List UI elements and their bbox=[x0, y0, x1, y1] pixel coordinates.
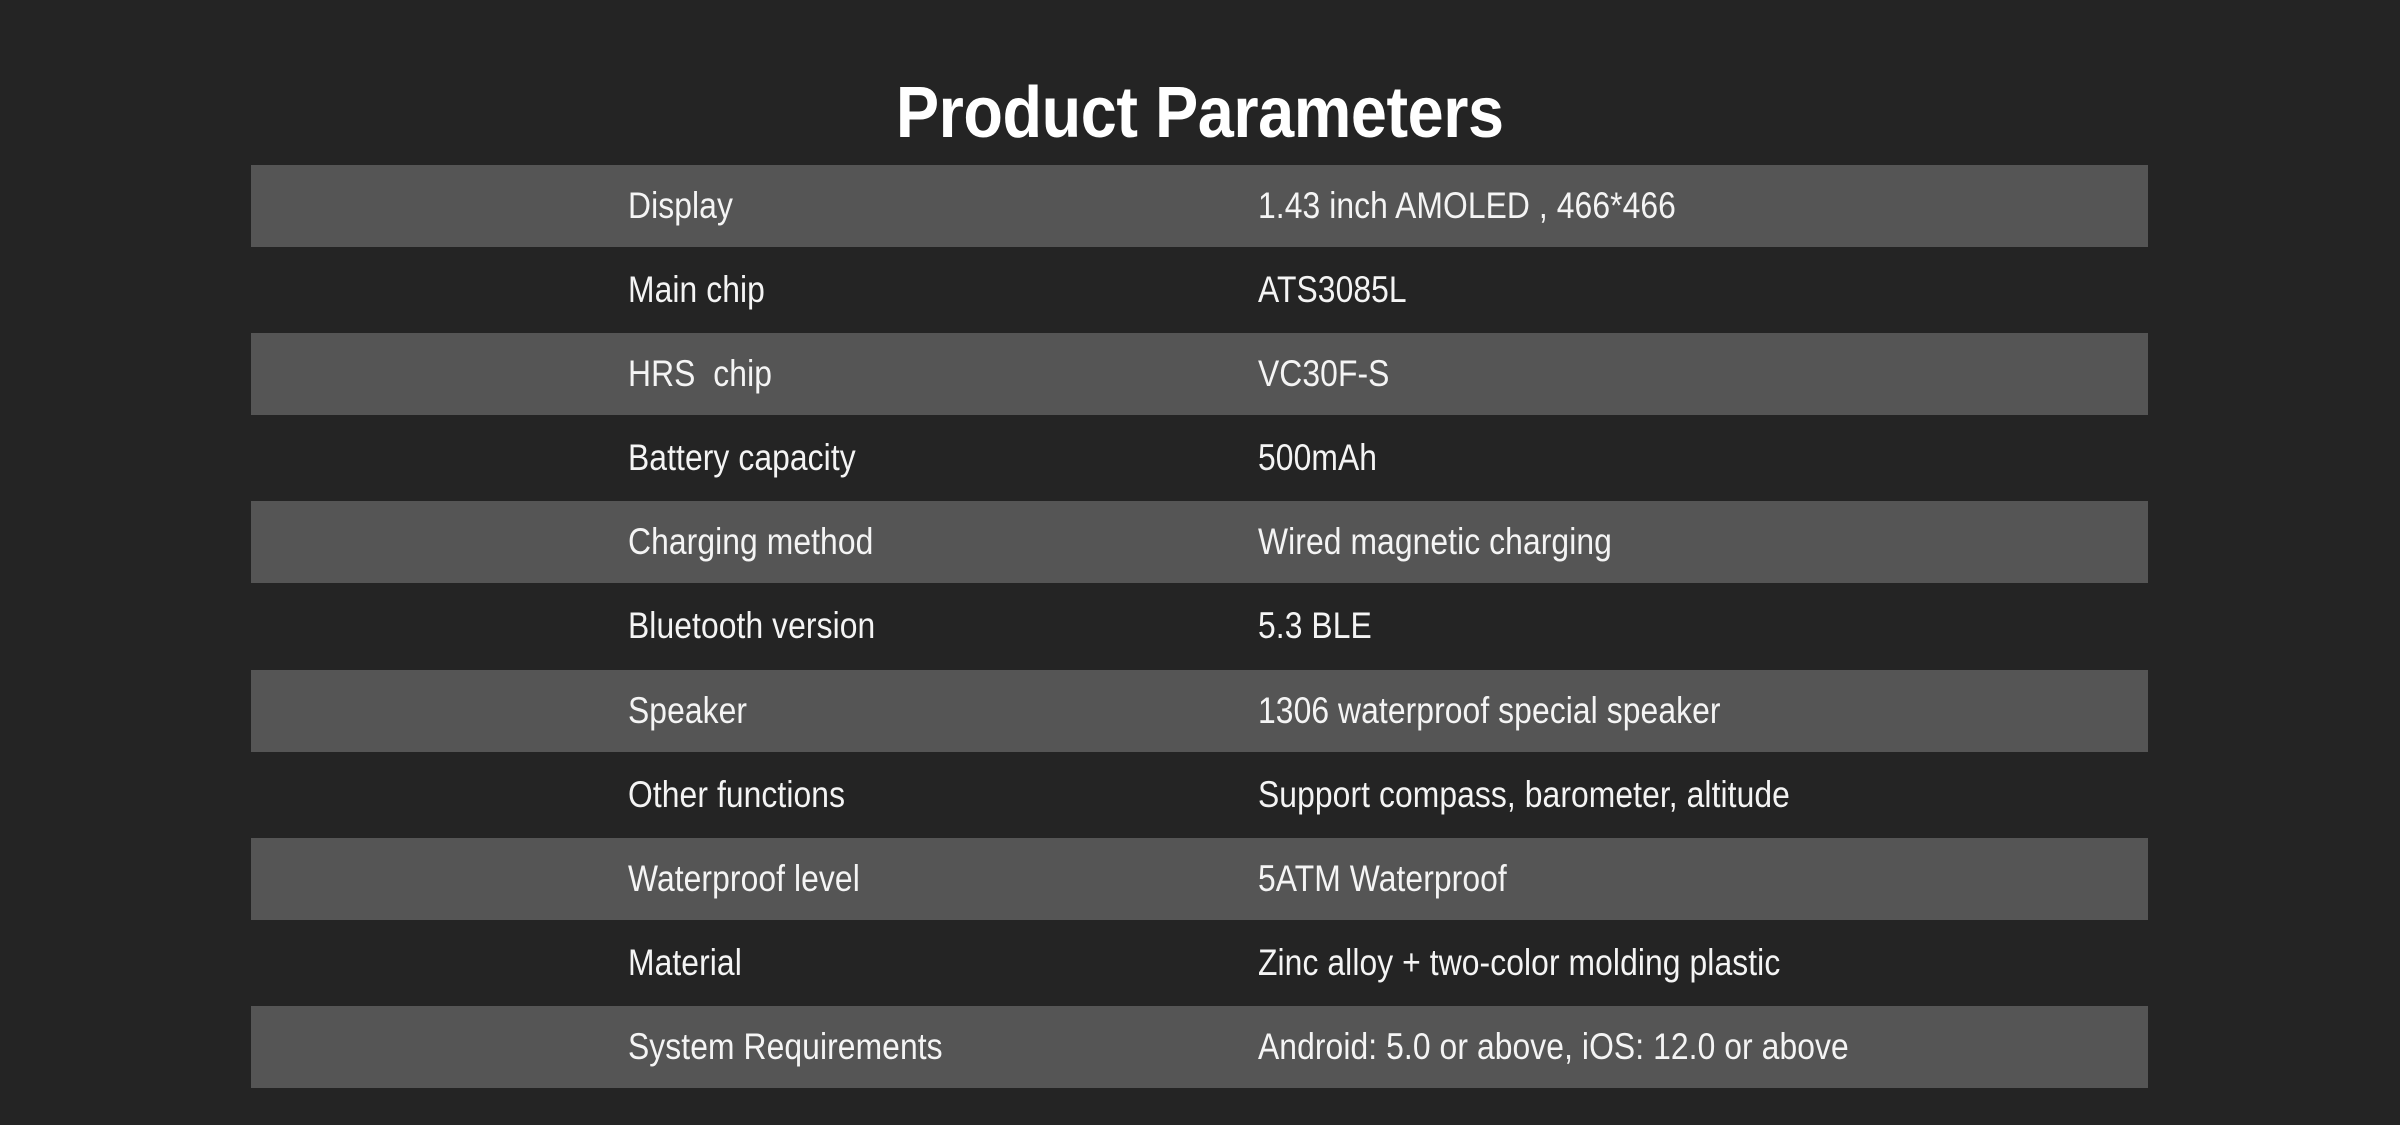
spec-value: 500mAh bbox=[1258, 417, 1377, 499]
spec-label: Other functions bbox=[628, 754, 845, 836]
table-row: Bluetooth version5.3 BLE bbox=[251, 585, 2148, 667]
spec-value: 5ATM Waterproof bbox=[1258, 838, 1507, 920]
spec-label: Display bbox=[628, 165, 733, 247]
specification-table: Display1.43 inch AMOLED , 466*466Main ch… bbox=[251, 165, 2148, 1090]
table-row: MaterialZinc alloy + two-color molding p… bbox=[251, 922, 2148, 1004]
table-row: Battery capacity500mAh bbox=[251, 417, 2148, 499]
spec-label: Battery capacity bbox=[628, 417, 856, 499]
page-title: Product Parameters bbox=[120, 70, 2280, 156]
table-row: Waterproof level5ATM Waterproof bbox=[251, 838, 2148, 920]
table-row: Charging methodWired magnetic charging bbox=[251, 501, 2148, 583]
table-row: Speaker1306 waterproof special speaker bbox=[251, 670, 2148, 752]
spec-value: VC30F-S bbox=[1258, 333, 1389, 415]
table-row: HRS chipVC30F-S bbox=[251, 333, 2148, 415]
spec-value: 5.3 BLE bbox=[1258, 585, 1372, 667]
spec-label: Charging method bbox=[628, 501, 873, 583]
spec-label: Bluetooth version bbox=[628, 585, 875, 667]
spec-value: Zinc alloy + two-color molding plastic bbox=[1258, 922, 1780, 1004]
table-row: Main chipATS3085L bbox=[251, 249, 2148, 331]
table-row: System RequirementsAndroid: 5.0 or above… bbox=[251, 1006, 2148, 1088]
spec-value: ATS3085L bbox=[1258, 249, 1407, 331]
spec-label: Speaker bbox=[628, 670, 747, 752]
table-row: Other functionsSupport compass, baromete… bbox=[251, 754, 2148, 836]
table-row: Display1.43 inch AMOLED , 466*466 bbox=[251, 165, 2148, 247]
spec-value: Support compass, barometer, altitude bbox=[1258, 754, 1790, 836]
spec-value: Android: 5.0 or above, iOS: 12.0 or abov… bbox=[1258, 1006, 1849, 1088]
spec-value: 1.43 inch AMOLED , 466*466 bbox=[1258, 165, 1676, 247]
spec-label: Main chip bbox=[628, 249, 765, 331]
spec-value: 1306 waterproof special speaker bbox=[1258, 670, 1721, 752]
spec-label: Material bbox=[628, 922, 742, 1004]
product-parameters-page: Product Parameters Display1.43 inch AMOL… bbox=[0, 0, 2400, 1125]
spec-label: System Requirements bbox=[628, 1006, 943, 1088]
spec-label: Waterproof level bbox=[628, 838, 860, 920]
spec-label: HRS chip bbox=[628, 333, 772, 415]
spec-value: Wired magnetic charging bbox=[1258, 501, 1612, 583]
